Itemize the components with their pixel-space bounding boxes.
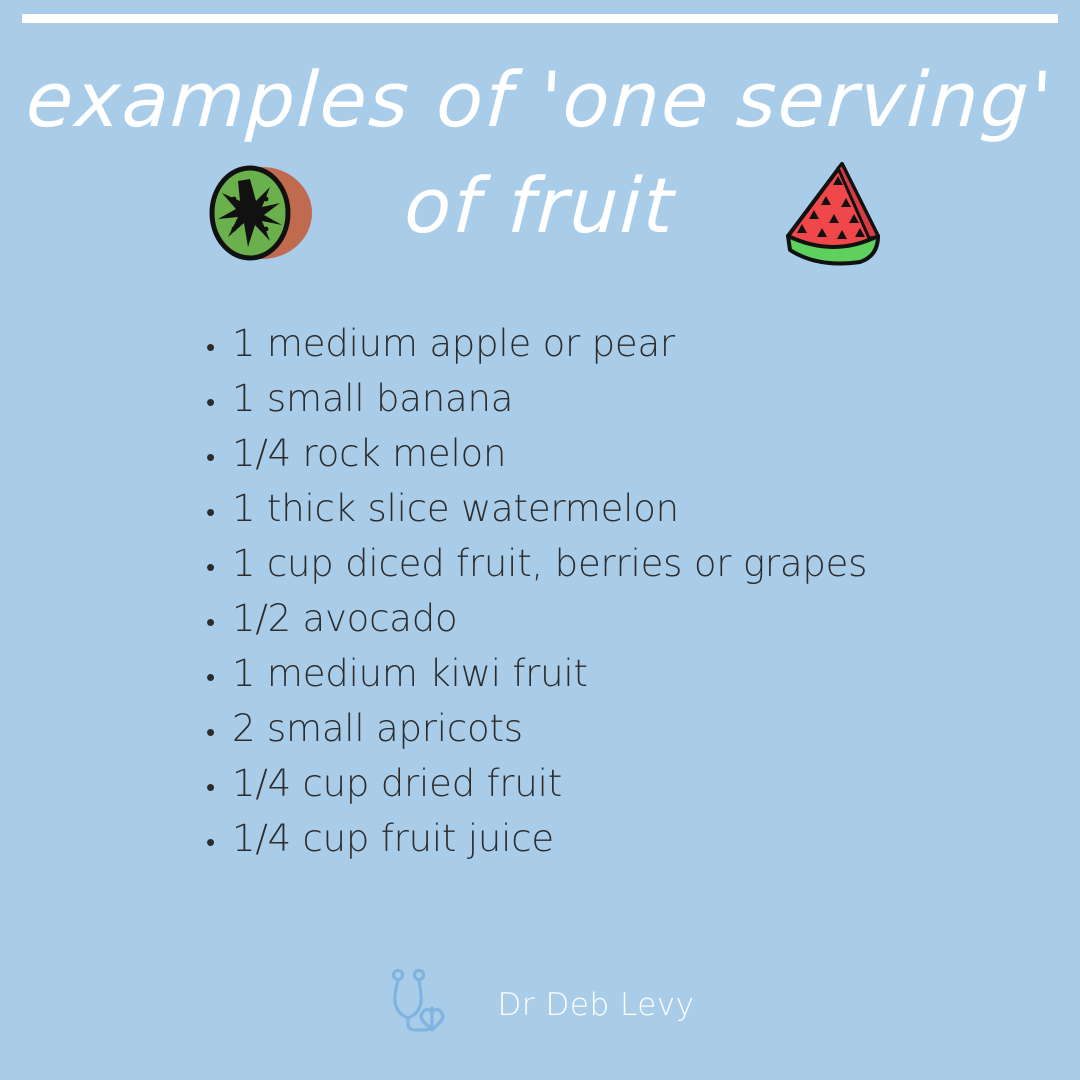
list-item: • 1/2 avocado (206, 597, 1006, 652)
footer-signature: Dr Deb Levy (0, 968, 1080, 1042)
list-item-label: 1 cup diced fruit, berries or grapes (232, 542, 867, 585)
bullet-icon: • (206, 500, 232, 526)
list-item: • 1 medium kiwi fruit (206, 652, 1006, 707)
list-item-label: 1/4 cup fruit juice (232, 817, 554, 860)
footer-name-label: Dr Deb Levy (498, 987, 695, 1023)
list-item: • 1 small banana (206, 377, 1006, 432)
list-item-label: 1 thick slice watermelon (232, 487, 679, 530)
watermelon-icon (774, 158, 892, 272)
bullet-icon: • (206, 720, 232, 746)
list-item: • 1/4 cup dried fruit (206, 762, 1006, 817)
top-divider-rule (22, 14, 1058, 23)
title-line-2: of fruit (0, 150, 1080, 262)
bullet-icon: • (206, 335, 232, 361)
bullet-icon: • (206, 830, 232, 856)
list-item-label: 1 small banana (232, 377, 513, 420)
kiwi-icon (200, 155, 316, 271)
list-item-label: 2 small apricots (232, 707, 523, 750)
list-item: • 1 medium apple or pear (206, 322, 1006, 377)
bullet-icon: • (206, 665, 232, 691)
bullet-icon: • (206, 775, 232, 801)
list-item: • 1/4 rock melon (206, 432, 1006, 487)
serving-examples-list: • 1 medium apple or pear • 1 small banan… (206, 322, 1006, 872)
title-line-1: examples of 'one serving' (0, 44, 1080, 156)
bullet-icon: • (206, 390, 232, 416)
bullet-icon: • (206, 610, 232, 636)
list-item: • 2 small apricots (206, 707, 1006, 762)
poster-canvas: examples of 'one serving' of fruit (0, 0, 1080, 1080)
title-block: examples of 'one serving' of fruit (0, 44, 1080, 262)
list-item-label: 1/2 avocado (232, 597, 457, 640)
list-item-label: 1/4 rock melon (232, 432, 506, 475)
list-item: • 1 cup diced fruit, berries or grapes (206, 542, 1006, 597)
list-item-label: 1 medium apple or pear (232, 322, 675, 365)
list-item-label: 1 medium kiwi fruit (232, 652, 588, 695)
list-item-label: 1/4 cup dried fruit (232, 762, 562, 805)
list-item: • 1/4 cup fruit juice (206, 817, 1006, 872)
bullet-icon: • (206, 445, 232, 471)
bullet-icon: • (206, 555, 232, 581)
list-item: • 1 thick slice watermelon (206, 487, 1006, 542)
stethoscope-icon (386, 968, 454, 1042)
